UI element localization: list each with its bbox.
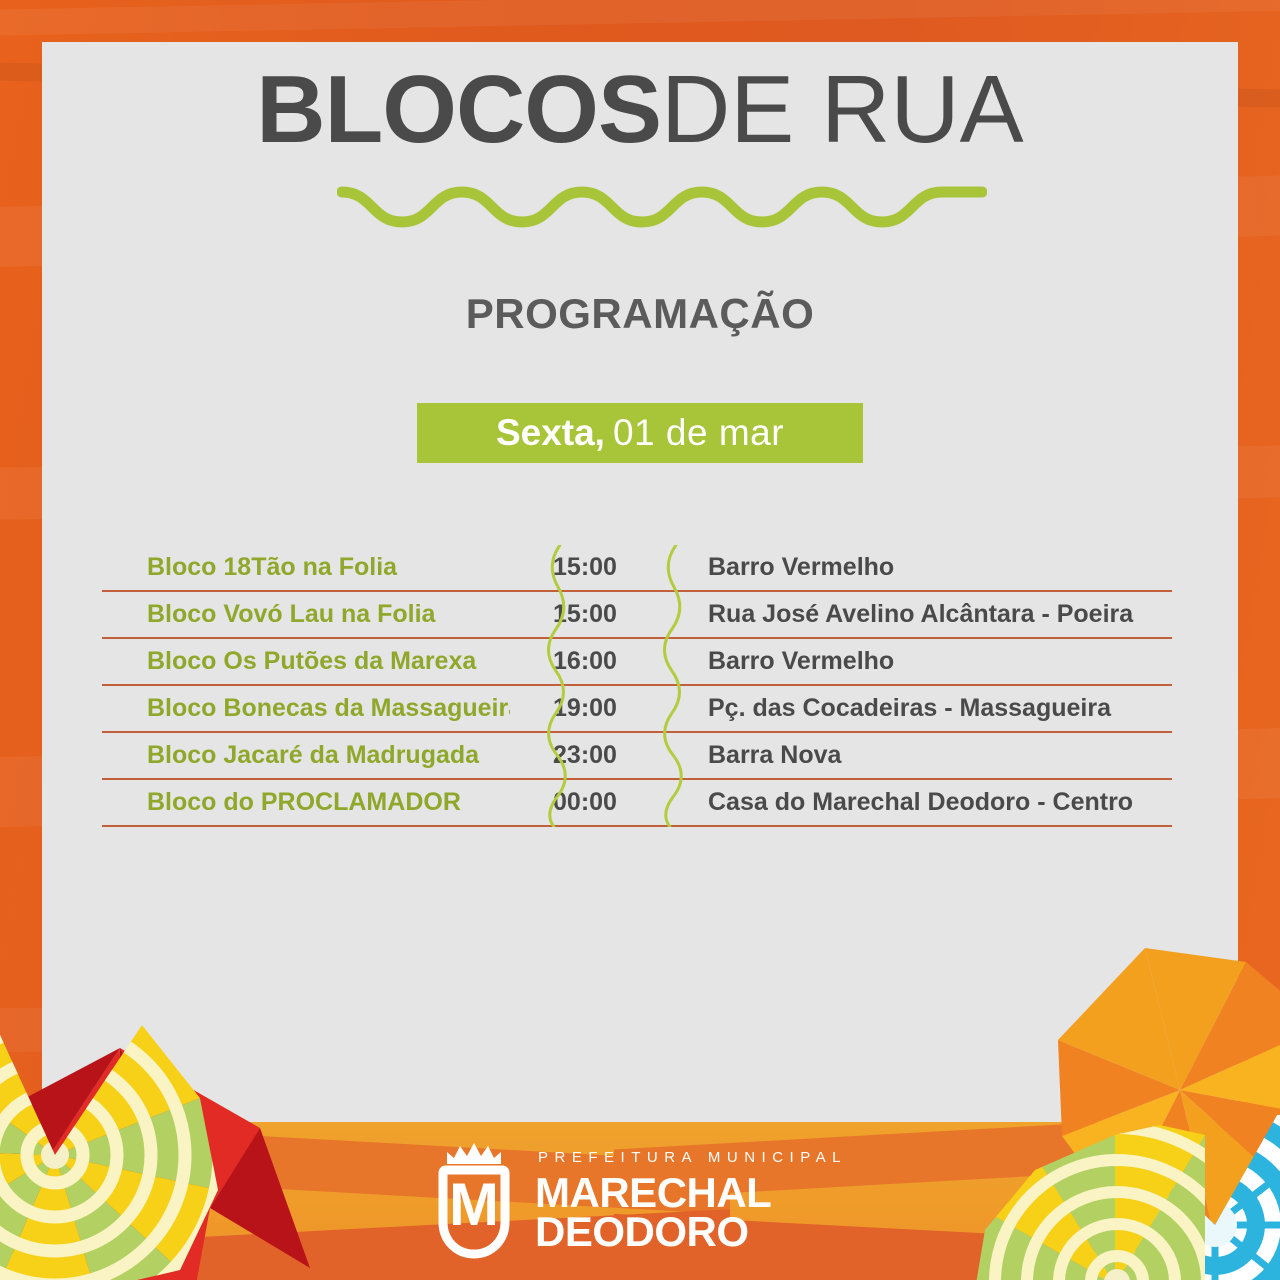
row-bloco-name: Bloco Jacaré da Madrugada <box>102 741 510 770</box>
shield-crown-logo-icon: M <box>433 1142 515 1260</box>
green-wave-divider-icon <box>337 170 987 240</box>
row-bloco-name: Bloco 18Tão na Folia <box>102 553 510 582</box>
schedule-table: Bloco 18Tão na Folia 15:00 Barro Vermelh… <box>102 545 1172 827</box>
date-value: 01 de mar <box>613 412 784 454</box>
content-panel: BLOCOSDE RUA PROGRAMAÇÃO Sexta, 01 de ma… <box>42 42 1238 1122</box>
table-row[interactable]: Bloco do PROCLAMADOR 00:00 Casa do Marec… <box>102 780 1172 827</box>
row-location: Barra Nova <box>660 741 1172 770</box>
row-bloco-name: Bloco do PROCLAMADOR <box>102 788 510 817</box>
table-row[interactable]: Bloco Jacaré da Madrugada 23:00 Barra No… <box>102 733 1172 780</box>
row-bloco-name: Bloco Vovó Lau na Folia <box>102 600 510 629</box>
frame-band <box>0 0 1280 38</box>
title-bold-part: BLOCOS <box>256 56 661 163</box>
prefecture-label: PREFEITURA MUNICIPAL <box>538 1150 847 1165</box>
row-bloco-name: Bloco Bonecas da Massagueira <box>102 694 510 723</box>
date-weekday: Sexta, <box>496 412 605 454</box>
page-title: BLOCOSDE RUA <box>42 62 1238 158</box>
row-location: Barro Vermelho <box>660 553 1172 582</box>
row-location: Casa do Marechal Deodoro - Centro <box>660 788 1172 817</box>
date-banner: Sexta, 01 de mar <box>417 403 863 463</box>
table-row[interactable]: Bloco Vovó Lau na Folia 15:00 Rua José A… <box>102 592 1172 639</box>
poster-canvas: BLOCOSDE RUA PROGRAMAÇÃO Sexta, 01 de ma… <box>0 0 1280 1280</box>
footer-bar: M PREFEITURA MUNICIPAL MARECHAL DEODORO <box>0 1122 1280 1280</box>
city-logo: M PREFEITURA MUNICIPAL MARECHAL DEODORO <box>0 1122 1280 1280</box>
row-location: Rua José Avelino Alcântara - Poeira <box>660 600 1172 629</box>
table-row[interactable]: Bloco 18Tão na Folia 15:00 Barro Vermelh… <box>102 545 1172 592</box>
row-time: 15:00 <box>510 600 660 629</box>
row-location: Barro Vermelho <box>660 647 1172 676</box>
city-name-line2: DEODORO <box>535 1211 847 1253</box>
programacao-subtitle: PROGRAMAÇÃO <box>42 290 1238 338</box>
table-row[interactable]: Bloco Bonecas da Massagueira 19:00 Pç. d… <box>102 686 1172 733</box>
row-time: 19:00 <box>510 694 660 723</box>
row-time: 16:00 <box>510 647 660 676</box>
city-logo-text: PREFEITURA MUNICIPAL MARECHAL DEODORO <box>535 1150 847 1253</box>
row-time: 00:00 <box>510 788 660 817</box>
row-bloco-name: Bloco Os Putões da Marexa <box>102 647 510 676</box>
row-time: 23:00 <box>510 741 660 770</box>
table-row[interactable]: Bloco Os Putões da Marexa 16:00 Barro Ve… <box>102 639 1172 686</box>
shield-letter: M <box>449 1171 499 1238</box>
title-light-part: DE RUA <box>661 56 1024 163</box>
row-location: Pç. das Cocadeiras - Massagueira <box>660 694 1172 723</box>
row-time: 15:00 <box>510 553 660 582</box>
